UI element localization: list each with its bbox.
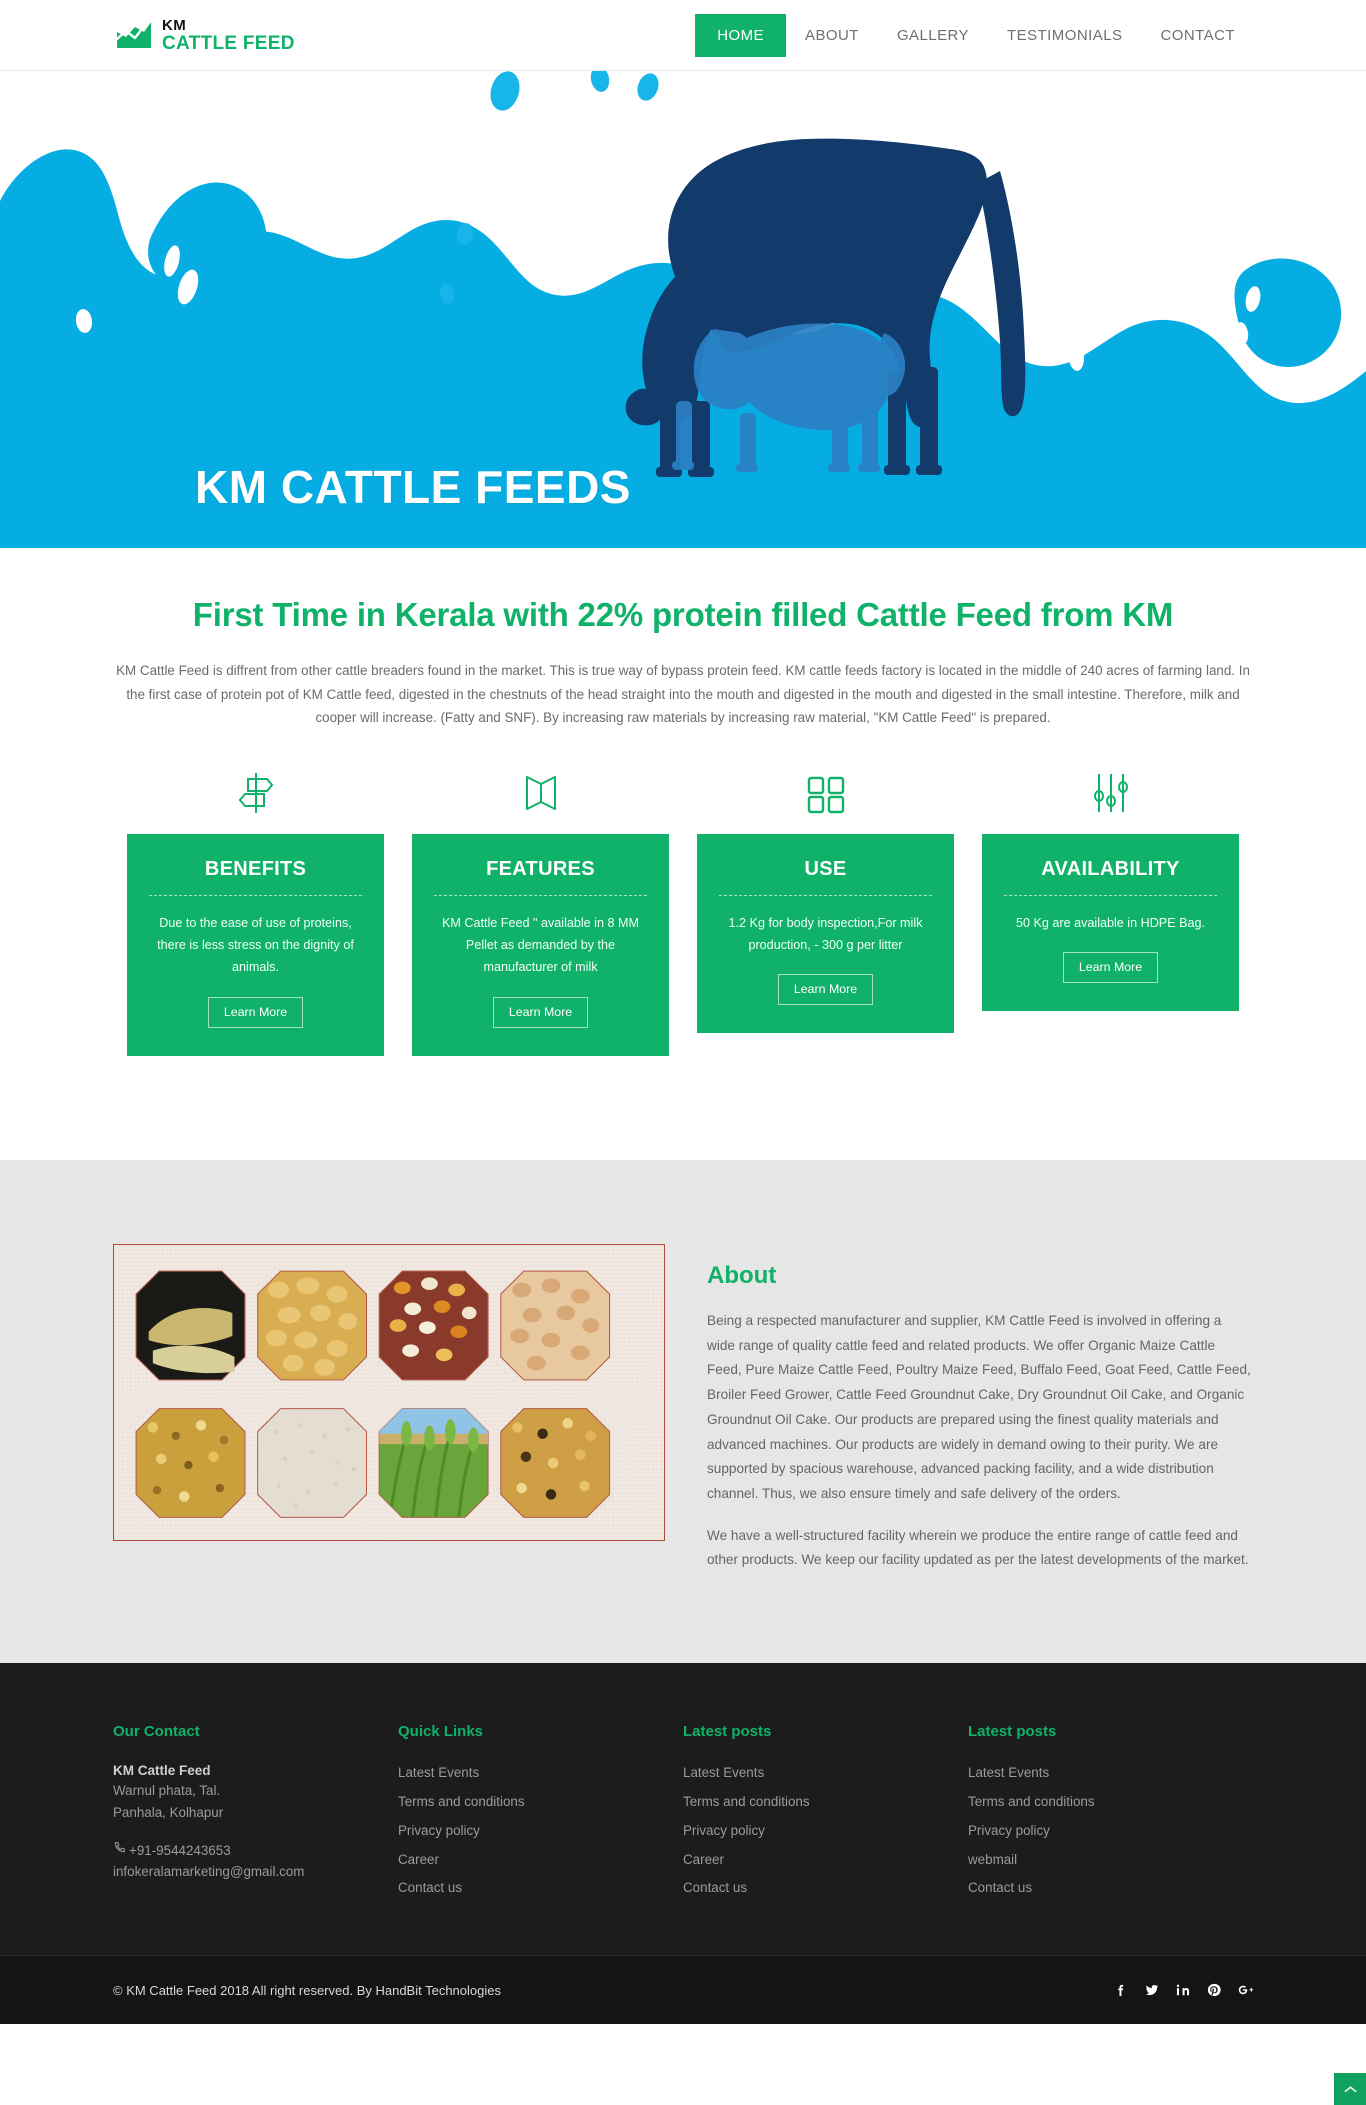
site-footer: Our Contact KM Cattle Feed Warnul phata,… [0,1663,1366,2024]
about-heading: About [707,1262,1253,1290]
google-plus-icon[interactable] [1238,1983,1253,1997]
facebook-icon[interactable] [1114,1983,1128,1997]
about-paragraph-2: We have a well-structured facility where… [707,1524,1253,1573]
feature-card-benefits: BENEFITS Due to the ease of use of prote… [127,834,384,1056]
footer-column-latest-posts-2: Latest posts Latest Events Terms and con… [968,1723,1253,1907]
footer-link-latest-events[interactable]: Latest Events [398,1763,663,1783]
footer-link-privacy[interactable]: Privacy policy [968,1821,1233,1841]
brand-line-2: CATTLE FEED [162,34,295,53]
card-title: FEATURES [432,858,649,881]
feature-cards: BENEFITS Due to the ease of use of prote… [113,834,1253,1056]
intro-title: First Time in Kerala with 22% protein fi… [113,594,1253,635]
card-body: KM Cattle Feed " available in 8 MM Pelle… [432,912,649,979]
nav-item-contact[interactable]: CONTACT [1141,15,1254,56]
card-divider [434,895,647,896]
social-links [1114,1983,1253,1997]
chart-growth-icon [115,20,153,50]
footer-address-line-1: Warnul phata, Tal. [113,1780,378,1802]
feature-card-features: FEATURES KM Cattle Feed " available in 8… [412,834,669,1056]
phone-icon [113,1841,126,1859]
card-body: Due to the ease of use of proteins, ther… [147,912,364,979]
feature-card-features-col: FEATURES KM Cattle Feed " available in 8… [398,834,683,1056]
card-title: AVAILABILITY [1002,858,1219,881]
card-title: BENEFITS [147,858,364,881]
footer-heading-latest-posts-1: Latest posts [683,1723,948,1740]
site-header: KM CATTLE FEED HOME ABOUT GALLERY TESTIM… [0,0,1366,71]
footer-link-career[interactable]: Career [398,1850,663,1870]
pinterest-icon[interactable] [1207,1983,1221,1997]
footer-link-latest-events[interactable]: Latest Events [683,1763,948,1783]
intro-section: First Time in Kerala with 22% protein fi… [0,548,1366,1056]
footer-column-contact: Our Contact KM Cattle Feed Warnul phata,… [113,1723,398,1907]
nav-item-about[interactable]: ABOUT [786,15,878,56]
feature-card-availability-col: AVAILABILITY 50 Kg are available in HDPE… [968,834,1253,1011]
about-section: About Being a respected manufacturer and… [0,1160,1366,1663]
linkedin-icon[interactable] [1176,1983,1190,1997]
intro-paragraph: KM Cattle Feed is diffrent from other ca… [115,659,1251,729]
footer-link-latest-events[interactable]: Latest Events [968,1763,1233,1783]
feature-icon-row [113,764,1253,816]
map-icon [398,764,683,816]
learn-more-button[interactable]: Learn More [1063,952,1158,983]
footer-link-privacy[interactable]: Privacy policy [683,1821,948,1841]
learn-more-button[interactable]: Learn More [208,997,303,1028]
footer-bottom-bar: © KM Cattle Feed 2018 All right reserved… [0,1955,1366,2024]
card-divider [1004,895,1217,896]
hero-banner: KM CATTLE FEEDS [0,71,1366,548]
feature-card-benefits-col: BENEFITS Due to the ease of use of prote… [113,834,398,1056]
feature-card-use-col: USE 1.2 Kg for body inspection,For milk … [683,834,968,1034]
footer-link-career[interactable]: Career [683,1850,948,1870]
footer-address-line-2: Panhala, Kolhapur [113,1802,378,1824]
nav-item-gallery[interactable]: GALLERY [878,15,988,56]
footer-heading-quick-links: Quick Links [398,1723,663,1740]
footer-link-contact-us[interactable]: Contact us [683,1878,948,1898]
card-divider [149,895,362,896]
footer-column-latest-posts-1: Latest posts Latest Events Terms and con… [683,1723,968,1907]
nav-item-home[interactable]: HOME [695,14,786,57]
footer-link-terms[interactable]: Terms and conditions [683,1792,948,1812]
footer-link-contact-us[interactable]: Contact us [968,1878,1233,1898]
footer-link-terms[interactable]: Terms and conditions [398,1792,663,1812]
feature-card-use: USE 1.2 Kg for body inspection,For milk … [697,834,954,1034]
twitter-icon[interactable] [1145,1983,1159,1997]
about-paragraph-1: Being a respected manufacturer and suppl… [707,1309,1253,1507]
footer-link-terms[interactable]: Terms and conditions [968,1792,1233,1812]
learn-more-button[interactable]: Learn More [493,997,588,1028]
footer-heading-latest-posts-2: Latest posts [968,1723,1233,1740]
feature-card-availability: AVAILABILITY 50 Kg are available in HDPE… [982,834,1239,1011]
brand-line-1: KM [162,18,295,33]
nav-item-testimonials[interactable]: TESTIMONIALS [988,15,1141,56]
grid-apps-icon [683,764,968,816]
footer-email[interactable]: infokeralamarketing@gmail.com [113,1861,378,1883]
copyright-text: © KM Cattle Feed 2018 All right reserved… [113,1983,501,1998]
sliders-icon [968,764,1253,816]
card-body: 50 Kg are available in HDPE Bag. [1002,912,1219,934]
card-divider [719,895,932,896]
hero-title: KM CATTLE FEEDS [195,460,631,514]
footer-phone[interactable]: +91-9544243653 [129,1840,231,1862]
cattle-feed-ingredients-collage [113,1244,665,1541]
footer-company-name: KM Cattle Feed [113,1763,378,1778]
card-body: 1.2 Kg for body inspection,For milk prod… [717,912,934,957]
learn-more-button[interactable]: Learn More [778,974,873,1005]
footer-column-quick-links: Quick Links Latest Events Terms and cond… [398,1723,683,1907]
main-navigation: HOME ABOUT GALLERY TESTIMONIALS CONTACT [695,0,1254,70]
footer-heading-our-contact: Our Contact [113,1723,378,1740]
scroll-to-top-button[interactable] [1334,2073,1366,2105]
chevron-up-icon [1344,2082,1357,2097]
site-logo[interactable]: KM CATTLE FEED [115,18,295,53]
signpost-icon [113,764,398,816]
footer-link-privacy[interactable]: Privacy policy [398,1821,663,1841]
footer-link-contact-us[interactable]: Contact us [398,1878,663,1898]
footer-link-webmail[interactable]: webmail [968,1850,1233,1870]
card-title: USE [717,858,934,881]
